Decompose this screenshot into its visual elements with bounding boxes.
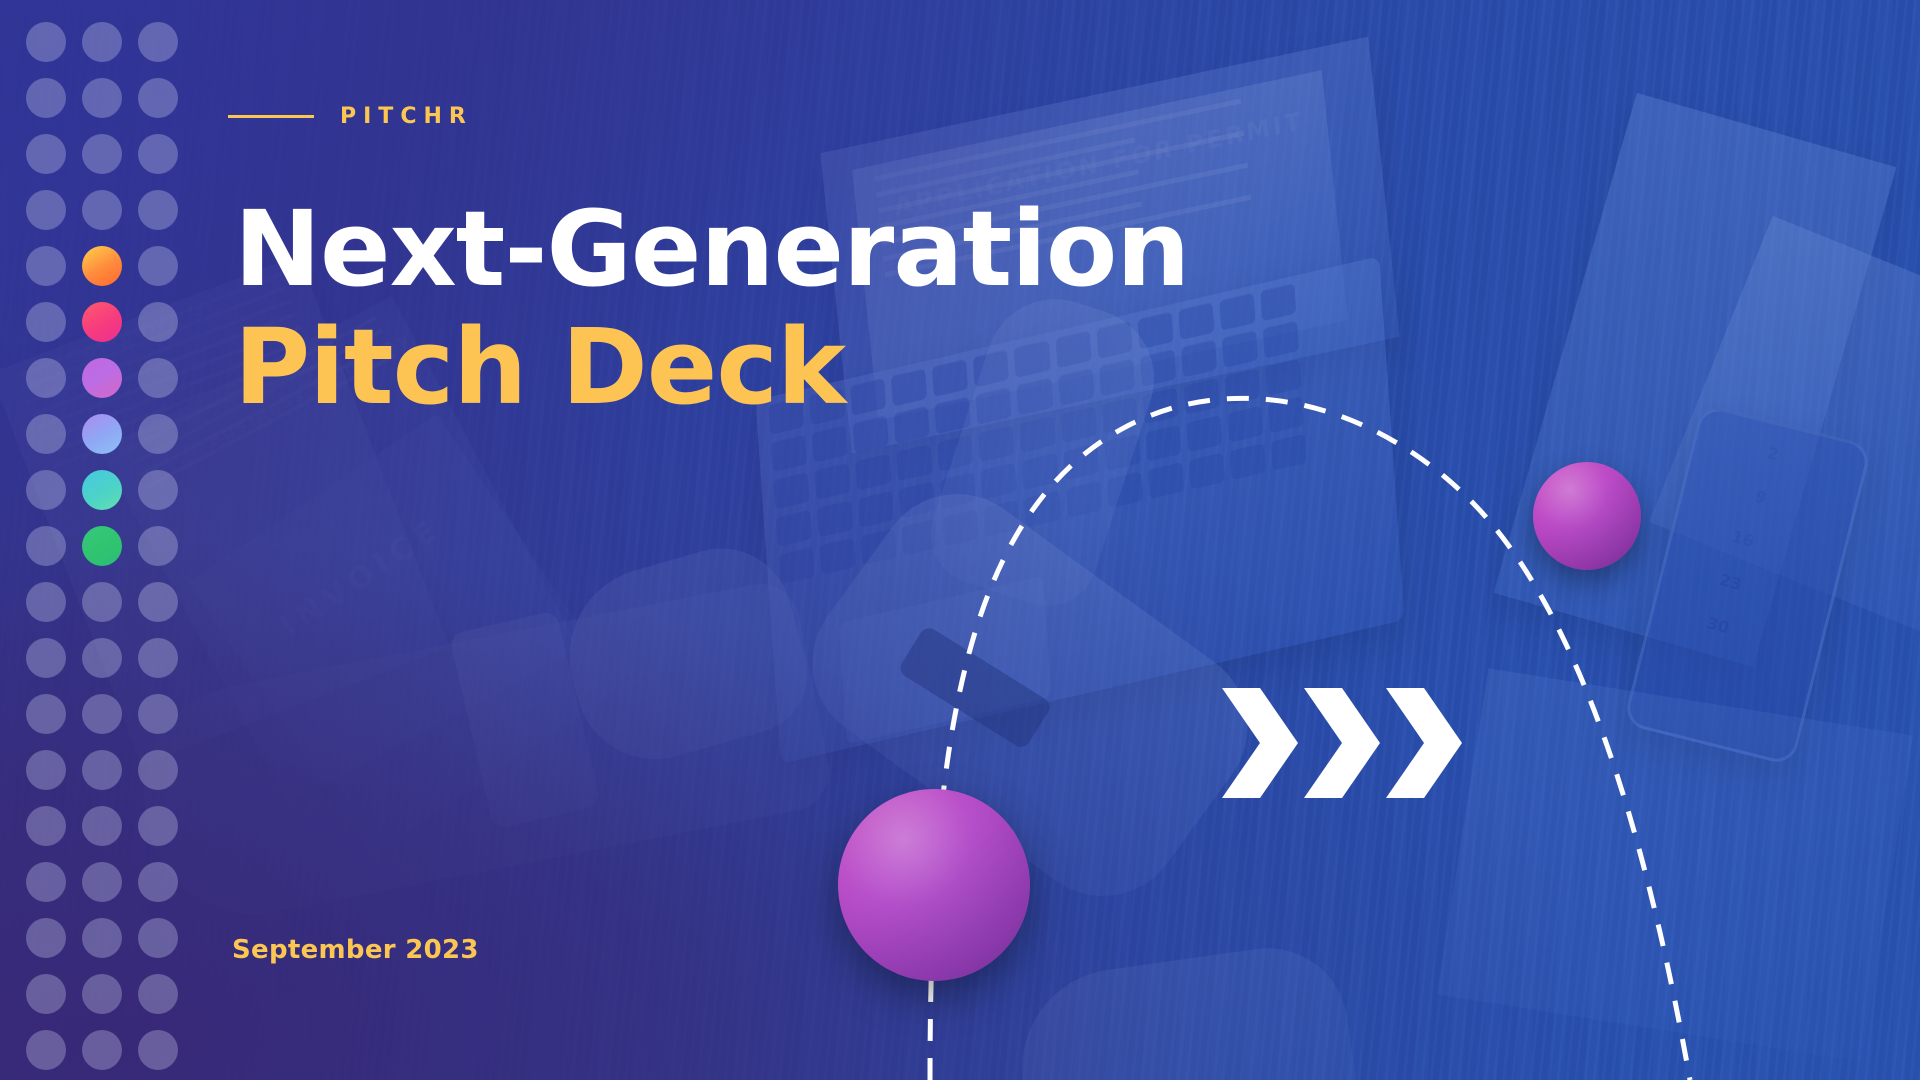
title-line-2: Pitch Deck (234, 314, 1189, 420)
horizontal-rule-icon (228, 115, 314, 118)
title-line-1: Next-Generation (234, 196, 1189, 302)
title-slide: Company G Business Company INVOICE APPLI… (0, 0, 1920, 1080)
slide-content: PITCHR Next-Generation Pitch Deck Septem… (0, 0, 1920, 1080)
page-title: Next-Generation Pitch Deck (234, 196, 1189, 420)
slide-date: September 2023 (232, 935, 479, 965)
brand-name: PITCHR (340, 104, 473, 129)
brand-lockup: PITCHR (228, 104, 473, 129)
